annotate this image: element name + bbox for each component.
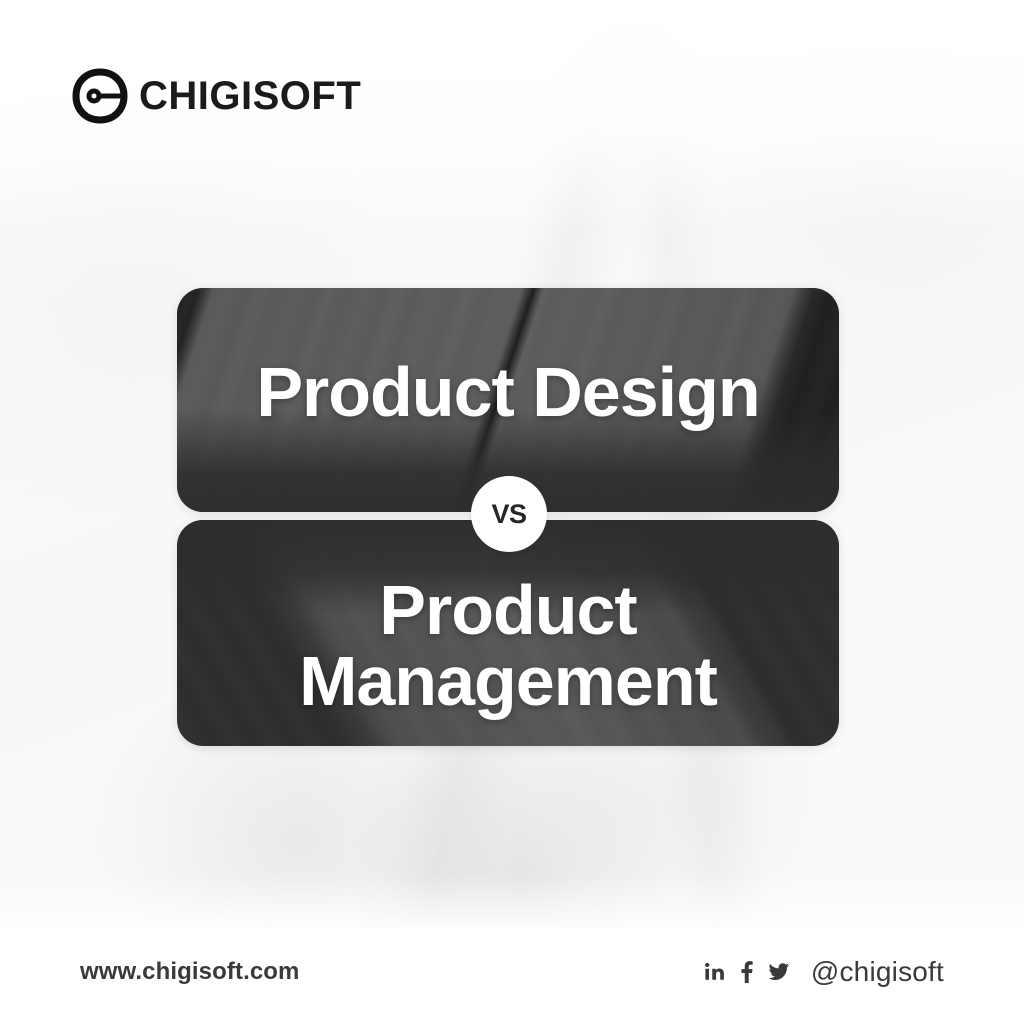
poster-canvas: CHIGISOFT Product Design Product Managem… xyxy=(0,0,1024,1024)
footer-website-url[interactable]: www.chigisoft.com xyxy=(80,958,300,986)
comparison-block: Product Design Product Management VS xyxy=(177,288,839,746)
facebook-icon[interactable] xyxy=(739,961,754,983)
chigisoft-circle-dot-icon xyxy=(72,68,128,124)
comparison-card-bottom: Product Management xyxy=(177,520,839,746)
brand-logo: CHIGISOFT xyxy=(72,68,361,124)
vs-badge: VS xyxy=(471,476,547,552)
comparison-card-bottom-title: Product Management xyxy=(177,520,839,746)
footer-social-handle[interactable]: @chigisoft xyxy=(811,956,944,988)
twitter-icon[interactable] xyxy=(767,961,791,983)
linkedin-icon[interactable] xyxy=(704,961,726,983)
footer-social-group: @chigisoft xyxy=(704,956,944,988)
brand-wordmark: CHIGISOFT xyxy=(139,76,361,116)
footer: www.chigisoft.com @chigisoft xyxy=(0,928,1024,1024)
